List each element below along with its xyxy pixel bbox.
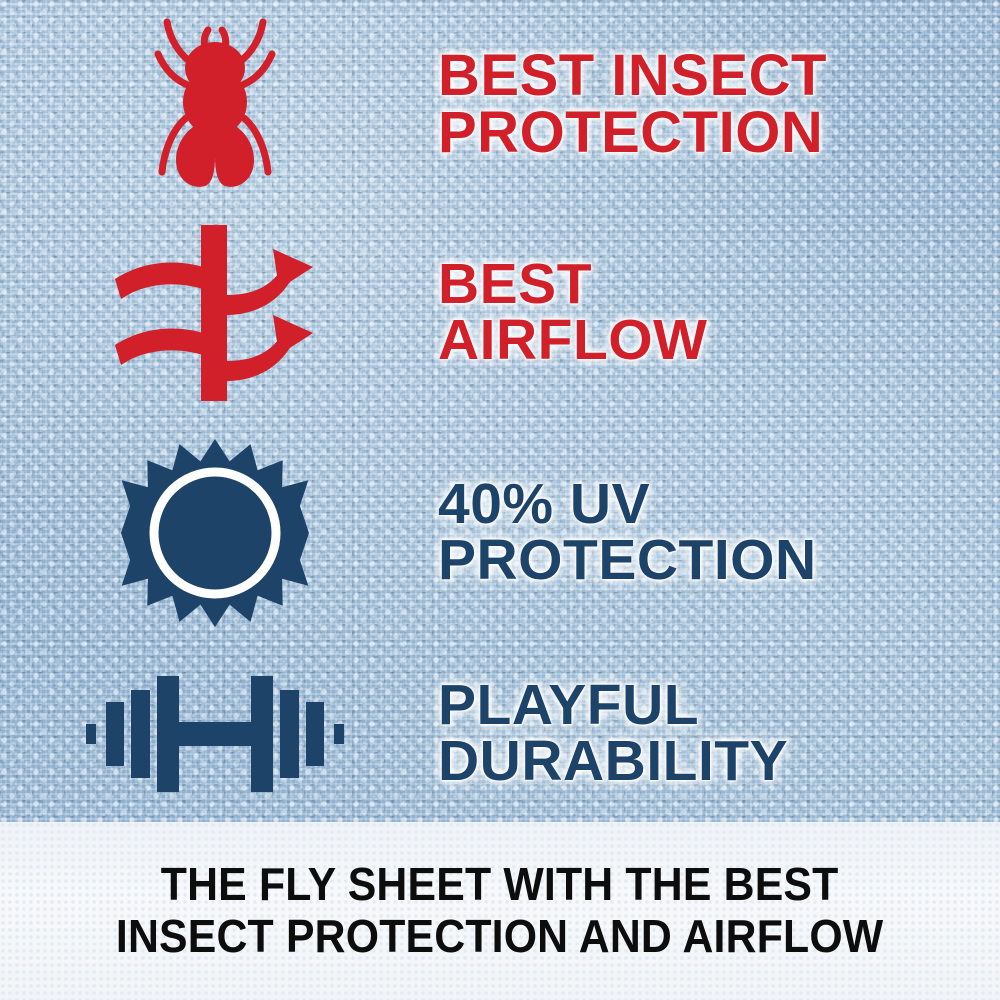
feature-text-cell: BEST AIRFLOW <box>430 257 1000 368</box>
feature-icon-cell <box>0 205 430 420</box>
feature-text-cell: PLAYFUL DURABILITY <box>430 678 1000 789</box>
caption-text: THE FLY SHEET WITH THE BEST INSECT PROTE… <box>116 859 883 962</box>
dumbbell-icon <box>86 674 344 794</box>
feature-row-uv-protection: 40% UV PROTECTION <box>0 420 1000 645</box>
feature-icon-cell <box>0 645 430 822</box>
feature-headline: BEST AIRFLOW <box>438 257 1000 368</box>
feature-row-durability: PLAYFUL DURABILITY <box>0 645 1000 822</box>
feature-row-insect-protection: BEST INSECT PROTECTION <box>0 0 1000 205</box>
fly-icon <box>140 10 290 195</box>
caption-band: THE FLY SHEET WITH THE BEST INSECT PROTE… <box>0 822 1000 1000</box>
infographic-poster: BEST INSECT PROTECTION <box>0 0 1000 1000</box>
feature-headline: BEST INSECT PROTECTION <box>438 48 1000 161</box>
sun-uv-icon <box>119 437 311 629</box>
feature-icon-cell <box>0 0 430 205</box>
feature-list: BEST INSECT PROTECTION <box>0 0 1000 822</box>
feature-text-cell: 40% UV PROTECTION <box>430 477 1000 588</box>
feature-headline: 40% UV PROTECTION <box>438 477 1000 588</box>
airflow-arrows-icon <box>113 223 318 403</box>
feature-headline: PLAYFUL DURABILITY <box>438 678 1000 789</box>
feature-row-airflow: BEST AIRFLOW <box>0 205 1000 420</box>
feature-text-cell: BEST INSECT PROTECTION <box>430 44 1000 161</box>
feature-icon-cell <box>0 420 430 645</box>
